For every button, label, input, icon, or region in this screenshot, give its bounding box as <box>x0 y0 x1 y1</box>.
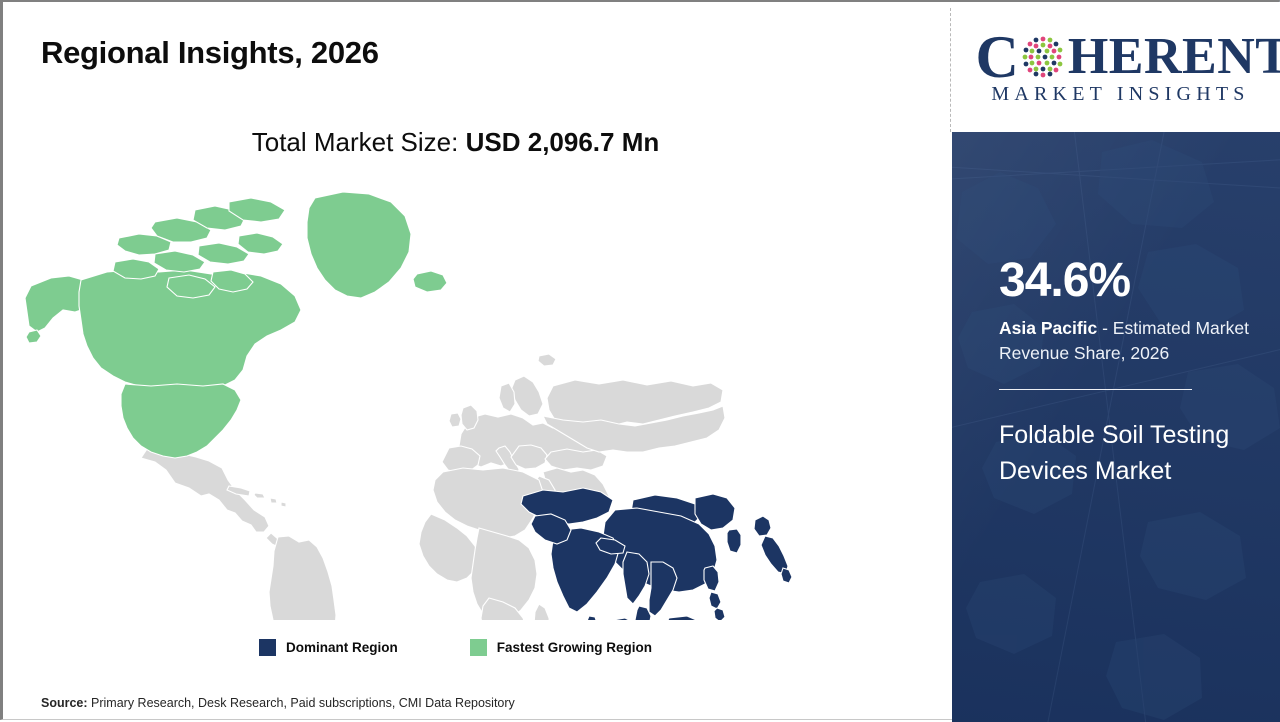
share-percentage: 34.6% <box>999 257 1251 305</box>
logo-letter-c: C <box>976 29 1019 85</box>
legend-item-fastest-growing: Fastest Growing Region <box>470 639 652 656</box>
world-map <box>23 180 903 620</box>
panel-divider-rule <box>999 389 1192 390</box>
legend-swatch-dominant <box>259 639 276 656</box>
legend-label-fastest-growing: Fastest Growing Region <box>497 640 652 655</box>
share-caption: Asia Pacific - Estimated Market Revenue … <box>999 316 1251 366</box>
map-panel: Regional Insights, 2026 Total Market Siz… <box>3 2 949 720</box>
share-region-name: Asia Pacific <box>999 318 1097 338</box>
source-label: Source: <box>41 696 88 710</box>
legend-label-dominant: Dominant Region <box>286 640 398 655</box>
highlight-side-panel: 34.6% Asia Pacific - Estimated Market Re… <box>952 132 1280 722</box>
map-legend: Dominant Region Fastest Growing Region <box>3 639 908 656</box>
source-note: Source: Primary Research, Desk Research,… <box>41 696 515 710</box>
legend-item-dominant: Dominant Region <box>259 639 398 656</box>
market-name: Foldable Soil Testing Devices Market <box>999 417 1251 490</box>
page-title: Regional Insights, 2026 <box>41 35 379 71</box>
panel-content: 34.6% Asia Pacific - Estimated Market Re… <box>999 257 1251 490</box>
legend-swatch-fastest-growing <box>470 639 487 656</box>
map-region-asia-pacific-dominant <box>521 488 868 620</box>
source-text: Primary Research, Desk Research, Paid su… <box>91 696 515 710</box>
globe-dots-icon <box>1019 33 1067 81</box>
total-market-size-value: USD 2,096.7 Mn <box>466 127 660 157</box>
logo-wordmark-rest: HERENT <box>1068 29 1280 85</box>
total-market-size-label: Total Market Size: <box>252 127 459 157</box>
logo-wordmark-row: C <box>976 29 1268 85</box>
coherent-market-insights-logo: C <box>968 29 1268 106</box>
vertical-divider <box>950 8 951 132</box>
map-region-north-america-fastest-growing <box>25 192 447 458</box>
infographic-canvas: Regional Insights, 2026 Total Market Siz… <box>0 0 1280 720</box>
logo-subtitle: MARKET INSIGHTS <box>968 83 1268 106</box>
brand-header: C <box>952 2 1280 132</box>
total-market-size: Total Market Size: USD 2,096.7 Mn <box>3 127 908 158</box>
